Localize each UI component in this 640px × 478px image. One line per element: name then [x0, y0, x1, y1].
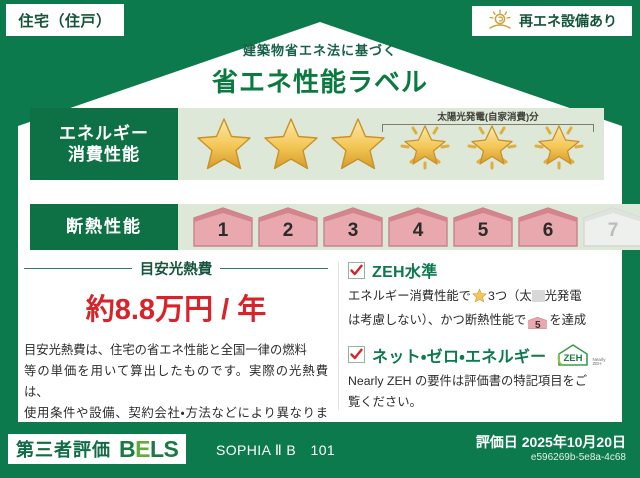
chip-label: 2: [283, 220, 294, 247]
certification-net-zero-energy: ネット・ゼロ・エネルギー ZEH Nearly ZEH Nearly ZEH の…: [348, 343, 606, 413]
energy-label-line2: 消費性能: [68, 144, 140, 165]
rule-left: [24, 268, 132, 270]
energy-cost-section: 目安光熱費 約8.8万円 / 年 目安光熱費は、住宅の省エネ性能と全国一律の燃料…: [24, 258, 328, 446]
insulation-levels-area: 1 2 3 4 5: [178, 204, 640, 250]
net-zero-body-line1: Nearly ZEH の要件は評価書の特記項目をご: [348, 371, 606, 392]
label-canvas: 住宅（住戸） 再エネ設備あり 建築物省エネ法に基づく 省エネ性能ラベル: [0, 0, 640, 478]
energy-cost-value: 約8.8万円 / 年: [24, 286, 328, 328]
evaluation-date: 評価日 2025年10月20日: [476, 432, 626, 452]
zeh-logo-sub2: ZEH: [592, 361, 601, 366]
title-subtitle: 建築物省エネ法に基づく: [0, 40, 640, 59]
note-line-2: 等の単価を用いて算出したものです。実際の光熱費は、: [24, 361, 328, 403]
star-rating: [178, 114, 590, 174]
chip-label: 3: [348, 220, 359, 247]
energy-performance-stars-area: 太陽光発電(自家消費)分: [178, 108, 604, 180]
insulation-label-text: 断熱性能: [66, 216, 142, 237]
insulation-chip-7: 7: [582, 207, 640, 247]
chip-label: 4: [413, 220, 424, 247]
star-icon-solar: [393, 114, 456, 174]
zeh-body-part1: エネルギー消費性能で: [348, 289, 471, 303]
renewable-badge-label: 再エネ設備あり: [519, 11, 617, 31]
insulation-chip-6: 6: [517, 207, 579, 247]
housing-type-badge: 住宅（住戸）: [6, 4, 124, 36]
energy-performance-row: エネルギー 消費性能: [30, 108, 604, 180]
zeh-level-header: ZEH水準: [348, 258, 606, 282]
zeh-body-part5: を達成: [549, 313, 586, 327]
zeh-level-body: エネルギー消費性能で3つ（太光発電 は考慮しない）、かつ断熱性能で5を達成: [348, 286, 606, 333]
net-zero-title: ネット・ゼロ・エネルギー: [372, 343, 546, 367]
renewable-equipment-badge: 再エネ設備あり: [472, 6, 632, 36]
insulation-chip-1: 1: [192, 207, 254, 247]
zeh-level-title: ZEH水準: [372, 258, 438, 282]
insulation-level-chips: 1 2 3 4 5: [178, 207, 640, 247]
insulation-chip-3: 3: [322, 207, 384, 247]
insulation-chip-inline: 5: [528, 317, 547, 333]
rule-right: [220, 268, 328, 270]
building-name: SOPHIA Ⅱ B 101: [216, 440, 335, 460]
net-zero-body-line2: 覧ください。: [348, 392, 606, 413]
net-zero-header: ネット・ゼロ・エネルギー ZEH Nearly ZEH: [348, 343, 606, 367]
zeh-body-part2: 3つ（太: [488, 289, 532, 303]
evaluation-id: e596269b-5e8a-4c68: [531, 452, 626, 463]
insulation-performance-row: 断熱性能 1 2 3 4: [30, 204, 604, 250]
note-line-1: 目安光熱費は、住宅の省エネ性能と全国一律の燃料: [24, 340, 328, 361]
energy-cost-heading: 目安光熱費: [24, 258, 328, 279]
svg-text:ZEH: ZEH: [564, 353, 583, 364]
checkbox-checked-icon[interactable]: [348, 346, 365, 363]
star-icon-solar: [460, 114, 523, 174]
zeh-body-part3: 光発電: [545, 289, 582, 303]
chip-label: 5: [478, 220, 489, 247]
checkbox-checked-icon[interactable]: [348, 262, 365, 279]
star-icon-inline: [472, 292, 487, 306]
sun-icon: [487, 9, 513, 34]
footer-bar: 第三者評価 BELS SOPHIA Ⅱ B 101 評価日 2025年10月20…: [0, 424, 640, 478]
insulation-chip-4: 4: [387, 207, 449, 247]
energy-cost-heading-text: 目安光熱費: [140, 258, 213, 279]
bels-logo: BELS: [119, 436, 178, 463]
title-main: 省エネ性能ラベル: [0, 62, 640, 99]
certifications-section: ZEH水準 エネルギー消費性能で3つ（太光発電 は考慮しない）、かつ断熱性能で5…: [348, 258, 606, 417]
net-zero-body: Nearly ZEH の要件は評価書の特記項目をご 覧ください。: [348, 371, 606, 413]
star-icon-solid: [259, 114, 322, 174]
third-party-label: 第三者評価: [16, 436, 111, 462]
star-icon-solid: [192, 114, 255, 174]
redacted-block-icon: [532, 290, 545, 302]
energy-performance-label: エネルギー 消費性能: [30, 108, 178, 180]
zeh-body-part4: は考慮しない）、かつ断熱性能で: [348, 313, 526, 327]
chip-label: 6: [543, 220, 554, 247]
insulation-chip-5: 5: [452, 207, 514, 247]
bels-evaluation-box: 第三者評価 BELS: [8, 434, 186, 464]
chip-label: 1: [218, 220, 229, 247]
insulation-performance-label: 断熱性能: [30, 204, 178, 250]
star-icon-solid: [326, 114, 389, 174]
star-icon-solar: [527, 114, 590, 174]
certification-zeh-level: ZEH水準 エネルギー消費性能で3つ（太光発電 は考慮しない）、かつ断熱性能で5…: [348, 258, 606, 333]
housing-type-label: 住宅（住戸）: [18, 10, 111, 31]
insulation-chip-2: 2: [257, 207, 319, 247]
label-title-block: 建築物省エネ法に基づく 省エネ性能ラベル: [0, 40, 640, 99]
inline-chip-label: 5: [528, 317, 547, 335]
zeh-house-logo-icon: ZEH Nearly ZEH: [556, 343, 605, 367]
column-divider: [338, 262, 339, 410]
chip-label: 7: [608, 220, 619, 247]
energy-label-line1: エネルギー: [59, 123, 149, 144]
